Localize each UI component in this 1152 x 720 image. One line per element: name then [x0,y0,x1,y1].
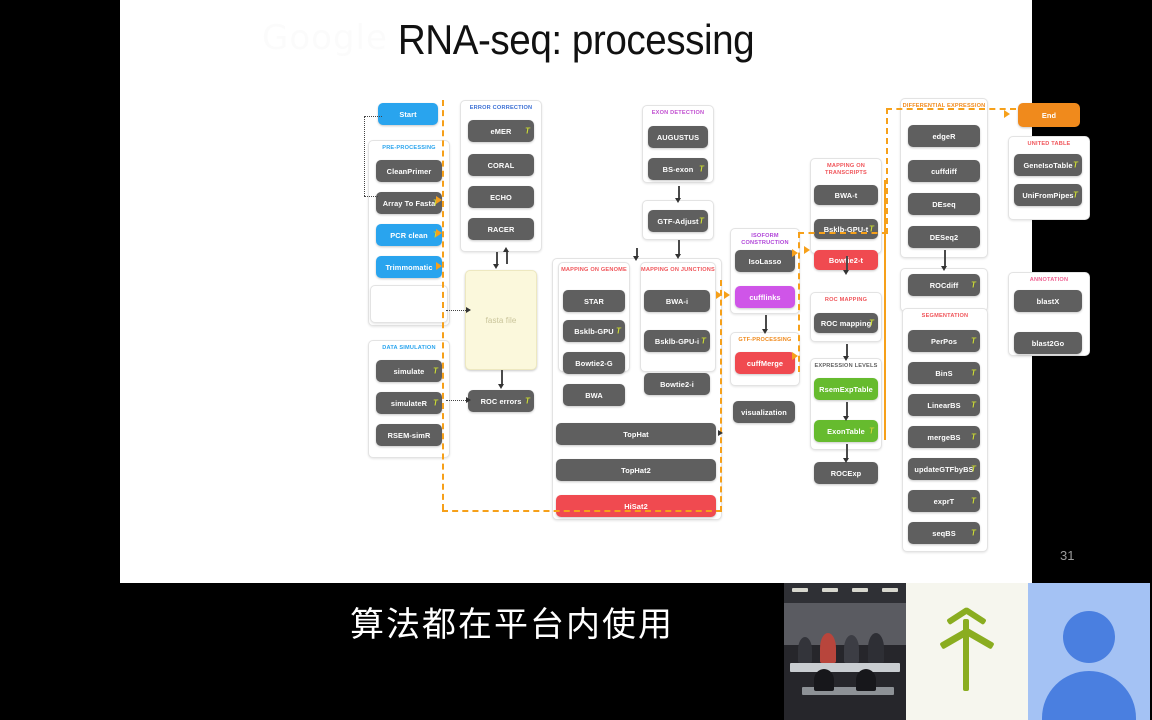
node-seqbs[interactable]: seqBST [908,522,980,544]
group-header-isoform-construction: ISOFORM CONSTRUCTION [730,233,800,247]
connector-solid-transcripts [884,180,886,440]
connector-into-mapping-head [633,256,639,261]
arrowhead-junction-out [716,291,722,299]
connector-isoform-to-gtfproc [765,315,767,329]
group-header-exon-detection: EXON DETECTION [642,110,714,117]
node-label: PerPos [931,337,957,346]
node-roc-errors[interactable]: ROC errorsT [468,390,534,412]
node-trimmomatic[interactable]: Trimmomatic [376,256,442,278]
participant-thumbnail-classroom[interactable] [784,583,906,720]
node-rsemexptable[interactable]: RsemExpTable [814,378,878,400]
group-header-united-table: UNITED TABLE [1008,141,1090,148]
node-visualization[interactable]: visualization [733,401,795,423]
connector-exon-to-gtfadjust-head [675,198,681,203]
connector-dashed-isoform-top [798,232,888,234]
node-label: ROC errors [481,397,522,406]
node-label: BWA [585,391,603,400]
ceiling-light [822,588,838,592]
node-end[interactable]: End [1018,103,1080,127]
t-flag-icon: T [971,369,976,378]
connector-exontable-to-rocexp-head [843,458,849,463]
person [820,633,836,663]
node-tophat2[interactable]: TopHat2 [556,459,716,481]
t-flag-icon: T [971,401,976,410]
group-header-data-simulation: DATA SIMULATION [368,345,450,352]
group-header-error-correction: ERROR CORRECTION [460,105,542,112]
connector-rsem-to-exon-head [843,416,849,421]
connector-errorcorr-to-fasta [496,252,498,264]
group-header-mapping-on-junctions: MAPPING ON JUNCTIONS [640,267,716,274]
node-label: updateGTFbyBS [914,465,973,474]
t-flag-icon: T [699,165,704,174]
node-label: edgeR [932,132,955,141]
node-isolasso[interactable]: IsoLasso [735,250,795,272]
node-label: blast2Go [1032,339,1064,348]
node-label: STAR [584,297,604,306]
node-label: Start [399,110,416,119]
node-start[interactable]: Start [378,103,438,125]
group-mapping-on-junctions [640,262,716,372]
node-label: cuffdiff [931,167,957,176]
t-flag-icon: T [971,433,976,442]
connector-dotted-gtf-to-fasta [446,310,468,311]
node-bwa-i[interactable]: BWA-i [644,290,710,312]
participant-thumbnail-logo[interactable] [906,583,1028,720]
t-flag-icon: T [616,327,621,336]
t-flag-icon: T [525,397,530,406]
node-label: TopHat [623,430,649,439]
node-simulate[interactable]: simulateT [376,360,442,382]
arrowhead-gtf-to-fasta [466,307,471,313]
node-bsklb-gpu[interactable]: Bsklb-GPUT [563,320,625,342]
t-flag-icon: T [869,427,874,436]
node-rocexp[interactable]: ROCExp [814,462,878,484]
node-roc-mapping[interactable]: ROC mappingT [814,313,878,333]
node-label: GeneIsoTable [1023,161,1072,170]
node-deseq2[interactable]: DESeq2 [908,226,980,248]
node-label: ROC mapping [821,319,871,328]
node-emer[interactable]: eMERT [468,120,534,142]
node-label: Trimmomatic [385,263,432,272]
arrowhead-end [1004,110,1010,118]
node-label: LinearBS [927,401,960,410]
node-label: ECHO [490,193,512,202]
node-label: CORAL [488,161,515,170]
node-updategtfbybs[interactable]: updateGTFbyBST [908,458,980,480]
node-label: Bowtie2-G [575,359,612,368]
connector-dotted-feedback-top [364,116,382,117]
node-label: DESeq2 [930,233,959,242]
connector-rsem-to-exon [846,402,848,416]
video-player-stage: Google RNA-seq: processing 31 StartPRE-P… [0,0,1152,720]
presentation-slide: Google RNA-seq: processing 31 StartPRE-P… [120,0,1032,583]
node-blast2go[interactable]: blast2Go [1014,332,1082,354]
connector-fasta-to-errorcorr [506,252,508,264]
t-flag-icon: T [701,337,706,346]
node-label: ROCdiff [930,281,959,290]
node-label: simulateR [391,399,427,408]
group-header-segmentation: SEGMENTATION [902,313,988,320]
person [868,633,884,663]
avatar-head-icon [1063,611,1115,663]
node-label: RsemExpTable [819,385,873,394]
node-label: AUGUSTUS [657,133,699,142]
node-label: BinS [935,369,952,378]
node-label: Array To Fasta [383,199,436,208]
t-flag-icon: T [433,367,438,376]
node-exprt[interactable]: exprTT [908,490,980,512]
node-racer[interactable]: RACER [468,218,534,240]
node-bsklb-gpu-t[interactable]: Bsklb-GPU-tT [814,219,878,239]
arrowhead-sim-to-roc [466,397,471,403]
node-label: mergeBS [927,433,960,442]
arrowhead-tophat-out [718,430,723,436]
connector-fasta-to-errorcorr-head [503,247,509,252]
connector-transcripts-to-roc [846,256,848,270]
node-blastx[interactable]: blastX [1014,290,1082,312]
node-perpos[interactable]: PerPosT [908,330,980,352]
node-label: ROCExp [831,469,862,478]
group-header-annotation: ANNOTATION [1008,277,1090,284]
connector-dashed-isoform [798,232,800,372]
node-label: cufflinks [749,293,780,302]
connector-dashed-to-end [886,108,1016,110]
connector-dotted-feedback-bottom [364,196,378,197]
node-linearbs[interactable]: LinearBST [908,394,980,416]
arrowhead-isolasso [792,249,798,257]
node-cleanprimer[interactable]: CleanPrimer [376,160,442,182]
connector-dashed-right [886,108,888,234]
connector-exontable-to-rocexp [846,444,848,458]
video-bottom-strip: 算法都在平台内使用 [0,583,1152,720]
node-bsklb-gpu-i[interactable]: Bsklb-GPU-iT [644,330,710,352]
person [856,669,876,691]
t-flag-icon: T [869,319,874,328]
t-flag-icon: T [971,529,976,538]
arrowhead-to-array-to-fasta [436,196,442,204]
node-simulater[interactable]: simulateRT [376,392,442,414]
t-flag-icon: T [1073,191,1078,200]
node-gtf-adjust-exon[interactable]: GTF-AdjustT [648,210,708,232]
connector-diffexpr-to-rocdiff [944,250,946,266]
node-label: RACER [488,225,515,234]
ceiling-light [792,588,808,592]
connector-dashed-spine-mid [720,280,722,512]
connector-isoform-to-gtfproc-head [762,329,768,334]
node-cuffmerge[interactable]: cuffMerge [735,352,795,374]
node-label: exprT [934,497,955,506]
node-pcr-clean[interactable]: PCR cleanT [376,224,442,246]
node-array-to-fasta[interactable]: Array To FastaT [376,192,442,214]
node-fasta-file[interactable]: fasta file [465,270,537,370]
arrowhead-cufflinks [724,291,730,299]
node-label: DEseq [932,200,956,209]
node-label: GTF-Adjust [657,217,698,226]
node-label: eMER [491,127,512,136]
connector-errorcorr-to-fasta-head [493,264,499,269]
rnaseq-pipeline-diagram: StartPRE-PROCESSINGCleanPrimerArray To F… [120,0,1032,583]
ceiling [784,583,906,603]
node-label: Bowtie2-i [660,380,694,389]
t-flag-icon: T [1073,161,1078,170]
node-edger[interactable]: edgeR [908,125,980,147]
node-echo[interactable]: ECHO [468,186,534,208]
node-rocdiff[interactable]: ROCdiffT [908,274,980,296]
ceiling-light [852,588,868,592]
node-geneisotable[interactable]: GeneIsoTableT [1014,154,1082,176]
node-label: Bsklb-GPU [574,327,614,336]
node-label: cuffMerge [747,359,783,368]
node-label: simulate [394,367,425,376]
connector-dashed-bottom [442,510,722,512]
node-label: Bsklb-GPU-i [655,337,699,346]
connector-transcripts-to-roc-head [843,270,849,275]
group-header-expression-levels: EXPRESSION LEVELS [810,363,882,370]
node-bwa-t[interactable]: BWA-t [814,185,878,205]
node-label: End [1042,111,1056,120]
node-bowtie2-g[interactable]: Bowtie2-G [563,352,625,374]
group-header-mapping-on-transcripts: MAPPING ON TRANSCRIPTS [810,163,882,177]
node-rsem-simr[interactable]: RSEM-simR [376,424,442,446]
node-label: seqBS [932,529,956,538]
node-exontable[interactable]: ExonTableT [814,420,878,442]
node-deseq[interactable]: DEseq [908,193,980,215]
node-label: CleanPrimer [387,167,432,176]
connector-gtfadjust-down [678,240,680,254]
connector-gtfadjust-down-head [675,254,681,259]
t-flag-icon: T [971,497,976,506]
node-cufflinks[interactable]: cufflinks [735,286,795,308]
connector-fasta-to-rocerrors [501,370,503,384]
node-label: BWA-t [835,191,858,200]
t-flag-icon: T [971,465,976,474]
node-augustus[interactable]: AUGUSTUS [648,126,708,148]
t-flag-icon: T [433,399,438,408]
group-header-mapping-on-genome: MAPPING ON GENOME [558,267,630,274]
node-label: TopHat2 [621,466,651,475]
connector-diffexpr-to-rocdiff-head [941,266,947,271]
node-label: BS-exon [663,165,694,174]
node-hisat2[interactable]: HiSat2 [556,495,716,517]
node-label: UniFromPipes [1022,191,1073,200]
desk [790,663,900,672]
participant-thumbnail-avatar[interactable] [1028,583,1150,720]
node-cuffdiff[interactable]: cuffdiff [908,160,980,182]
node-label: ExonTable [827,427,865,436]
arrowhead-to-trimmomatic [436,262,442,270]
node-label: visualization [741,408,787,417]
group-header-roc-mapping: ROC MAPPING [810,297,882,304]
person [798,637,812,663]
group-united-table [1008,136,1090,220]
group-header-pre-processing: PRE-PROCESSING [368,145,450,152]
t-flag-icon: T [971,337,976,346]
connector-exon-to-gtfadjust [678,186,680,198]
t-flag-icon: T [525,127,530,136]
person [844,635,859,663]
node-bwa[interactable]: BWA [563,384,625,406]
connector-dotted-sim-to-roc [446,400,468,401]
node-label: PCR clean [390,231,427,240]
t-flag-icon: T [971,281,976,290]
node-bowtie2-i[interactable]: Bowtie2-i [644,373,710,395]
node-bins[interactable]: BinST [908,362,980,384]
slide-number: 31 [1060,548,1074,563]
node-label: RSEM-simR [388,431,431,440]
connector-into-mapping [636,248,638,256]
connector-roc-to-expression-head [843,356,849,361]
node-label: blastX [1037,297,1060,306]
connector-dashed-spine-left [442,100,444,510]
arrowhead-cuffmerge [792,352,798,360]
node-label: fasta file [486,316,517,325]
arrowhead-bowtie2t [804,246,810,254]
t-flag-icon: T [699,217,704,226]
ceiling-light [882,588,898,592]
connector-fasta-to-rocerrors-head [498,384,504,389]
avatar-body-icon [1042,671,1136,720]
letterbox-left [0,0,120,583]
node-tophat[interactable]: TopHat [556,423,716,445]
person [814,669,834,691]
arrowhead-to-pcr-clean [436,229,442,237]
node-coral[interactable]: CORAL [468,154,534,176]
node-unifrompipes[interactable]: UniFromPipesT [1014,184,1082,206]
node-mergebs[interactable]: mergeBST [908,426,980,448]
node-bs-exon[interactable]: BS-exonT [648,158,708,180]
node-label: BWA-i [666,297,688,306]
node-star[interactable]: STAR [563,290,625,312]
connector-dotted-feedback [364,116,365,196]
connector-roc-to-expression [846,344,848,356]
group-header-gtf-processing: GTF-PROCESSING [730,337,800,344]
group-pre-processing-inner [370,285,448,323]
node-label: IsoLasso [749,257,782,266]
